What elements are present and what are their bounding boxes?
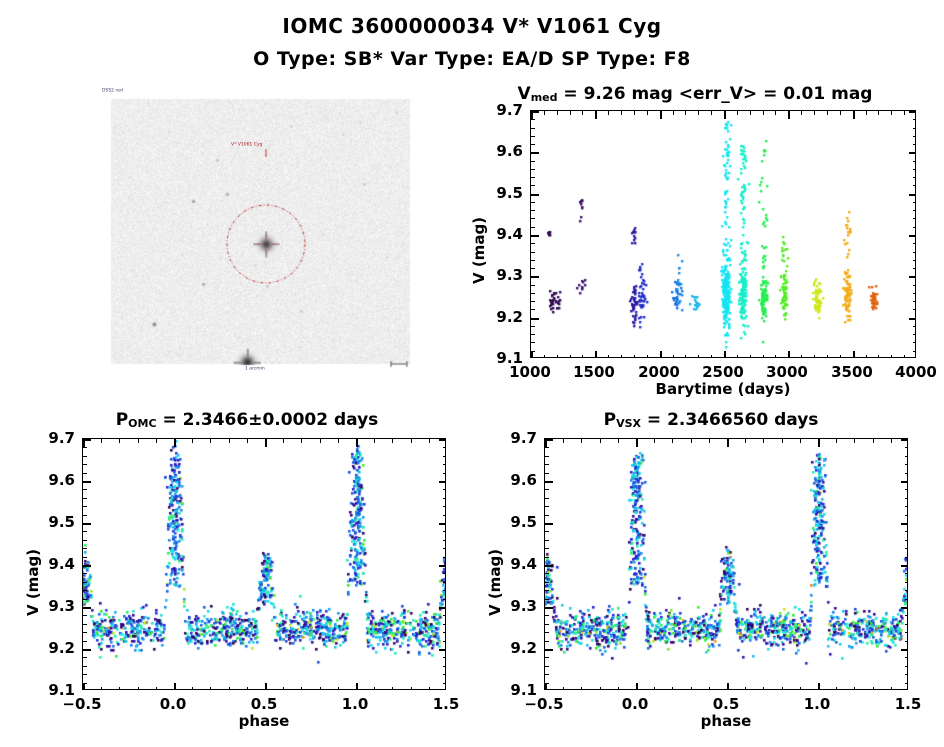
y-axis-tick-label: 9.7: [48, 429, 75, 447]
axis-tick: [443, 674, 446, 675]
axis-tick: [698, 111, 699, 115]
axis-tick: [905, 641, 908, 642]
axis-tick: [618, 687, 619, 690]
axis-tick: [788, 111, 790, 119]
axis-tick: [782, 439, 783, 443]
phase-omc-panel: POMC = 2.3466±0.0002 days V (mag) phase …: [12, 410, 482, 740]
x-axis-tick-label: 3000: [766, 363, 808, 381]
axis-tick: [818, 439, 820, 447]
axis-tick: [672, 687, 673, 690]
axis-tick: [913, 293, 916, 294]
page-subtitle: O Type: SB* Var Type: EA/D SP Type: F8: [0, 48, 944, 70]
axis-tick: [636, 683, 638, 690]
axis-tick: [709, 687, 710, 690]
axis-tick: [905, 515, 908, 516]
axis-tick: [443, 615, 446, 616]
axis-tick: [673, 111, 674, 115]
axis-tick: [439, 649, 446, 651]
x-axis-tick-label: 1.0: [342, 695, 369, 713]
axis-tick: [545, 439, 553, 441]
axis-tick: [905, 531, 908, 532]
x-axis-tick-label: 1.5: [433, 695, 460, 713]
axis-tick: [439, 523, 446, 525]
y-axis-tick-label: 9.1: [496, 349, 523, 367]
axis-tick: [737, 355, 738, 358]
axis-tick: [531, 144, 535, 145]
axis-tick: [909, 318, 916, 320]
axis-tick: [909, 276, 916, 278]
axis-tick: [727, 683, 729, 690]
axis-tick: [901, 439, 908, 441]
axis-tick: [563, 687, 564, 690]
axis-tick: [905, 464, 908, 465]
axis-tick: [891, 355, 892, 358]
axis-tick: [660, 351, 662, 358]
axis-tick: [443, 498, 446, 499]
x-axis-tick-label: 1500: [573, 363, 615, 381]
axis-tick: [545, 641, 549, 642]
y-axis-tick-label: 9.5: [48, 513, 75, 531]
axis-tick: [595, 111, 597, 119]
axis-tick: [531, 276, 539, 278]
axis-tick: [531, 210, 535, 211]
axis-tick: [544, 355, 545, 358]
phase-omc-points: [83, 439, 446, 690]
axis-tick: [545, 615, 549, 616]
axis-tick: [531, 318, 539, 320]
phase-vsx-points: [545, 439, 908, 690]
axis-tick: [763, 111, 764, 115]
axis-tick: [83, 498, 87, 499]
axis-tick: [83, 481, 91, 483]
axis-tick: [672, 439, 673, 443]
axis-tick: [727, 439, 729, 447]
axis-tick: [83, 439, 91, 441]
axis-tick: [545, 456, 549, 457]
axis-tick: [913, 119, 916, 120]
axis-tick: [545, 573, 549, 574]
axis-tick: [531, 169, 535, 170]
axis-tick: [531, 260, 535, 261]
y-axis-tick-label: 9.6: [510, 471, 537, 489]
axis-tick: [545, 590, 549, 591]
axis-tick: [83, 523, 91, 525]
y-axis-tick-label: 9.2: [48, 639, 75, 657]
axis-tick: [545, 481, 553, 483]
axis-tick: [724, 111, 726, 119]
axis-tick: [283, 687, 284, 690]
axis-tick: [443, 683, 446, 684]
axis-tick: [691, 439, 692, 443]
axis-tick: [174, 683, 176, 690]
axis-tick: [283, 439, 284, 443]
axis-tick: [443, 573, 446, 574]
phase-vsx-panel: PVSX = 2.3466560 days V (mag) phase −0.5…: [478, 410, 944, 740]
phase-vsx-ylabel: V (mag): [486, 549, 504, 616]
axis-tick: [545, 464, 549, 465]
axis-tick: [905, 506, 908, 507]
axis-tick: [531, 243, 535, 244]
x-axis-tick-label: 1.5: [895, 695, 922, 713]
axis-tick: [866, 355, 867, 358]
axis-tick: [545, 489, 549, 490]
axis-tick: [913, 285, 916, 286]
lightcurve-time-title: Vmed = 9.26 mag <err_V> = 0.01 mag: [460, 84, 930, 104]
axis-tick: [443, 464, 446, 465]
axis-tick: [545, 565, 553, 567]
axis-tick: [581, 439, 582, 443]
axis-tick: [905, 624, 908, 625]
sky-image: [99, 87, 422, 382]
lightcurve-time-xlabel: Barytime (days): [530, 380, 916, 398]
axis-tick: [901, 649, 908, 651]
axis-tick: [905, 573, 908, 574]
axis-tick: [443, 515, 446, 516]
axis-tick: [119, 687, 120, 690]
axis-tick: [901, 607, 908, 609]
axis-tick: [905, 582, 908, 583]
axis-tick: [374, 687, 375, 690]
axis-tick: [595, 351, 597, 358]
x-axis-tick-label: 4000: [895, 363, 937, 381]
axis-tick: [247, 687, 248, 690]
axis-tick: [83, 456, 87, 457]
axis-tick: [83, 573, 87, 574]
axis-tick: [854, 439, 855, 443]
axis-tick: [570, 111, 571, 115]
axis-tick: [83, 624, 87, 625]
axis-tick: [356, 439, 358, 447]
axis-tick: [443, 590, 446, 591]
axis-tick: [905, 447, 908, 448]
axis-tick: [782, 687, 783, 690]
axis-tick: [439, 439, 446, 441]
axis-tick: [801, 355, 802, 358]
axis-tick: [836, 687, 837, 690]
axis-tick: [545, 683, 549, 684]
axis-tick: [439, 481, 446, 483]
y-axis-tick-label: 9.3: [510, 597, 537, 615]
y-axis-tick-label: 9.5: [496, 184, 523, 202]
axis-tick: [545, 657, 549, 658]
axis-tick: [913, 144, 916, 145]
axis-tick: [545, 624, 549, 625]
axis-tick: [840, 111, 841, 115]
axis-tick: [545, 674, 549, 675]
x-axis-tick-label: 0.5: [251, 695, 278, 713]
axis-tick: [621, 355, 622, 358]
axis-tick: [913, 351, 916, 352]
y-axis-tick-label: 9.4: [510, 555, 537, 573]
axis-tick: [531, 301, 535, 302]
y-axis-tick-label: 9.4: [48, 555, 75, 573]
axis-tick: [557, 111, 558, 115]
axis-tick: [531, 309, 535, 310]
axis-tick: [531, 194, 539, 196]
phase-omc-ylabel: V (mag): [24, 549, 42, 616]
axis-tick: [545, 540, 549, 541]
axis-tick: [531, 268, 535, 269]
axis-tick: [545, 666, 549, 667]
axis-tick: [711, 111, 712, 115]
axis-tick: [647, 111, 648, 115]
axis-tick: [443, 473, 446, 474]
axis-tick: [905, 599, 908, 600]
x-axis-tick-label: 3500: [831, 363, 873, 381]
axis-tick: [531, 227, 535, 228]
axis-tick: [909, 111, 916, 113]
axis-tick: [570, 355, 571, 358]
axis-tick: [83, 615, 87, 616]
axis-tick: [83, 515, 87, 516]
y-axis-tick-label: 9.3: [496, 266, 523, 284]
axis-tick: [691, 687, 692, 690]
axis-tick: [557, 355, 558, 358]
axis-tick: [827, 355, 828, 358]
axis-tick: [531, 342, 535, 343]
axis-tick: [356, 683, 358, 690]
axis-tick: [608, 111, 609, 115]
axis-tick: [763, 439, 764, 443]
axis-tick: [913, 268, 916, 269]
axis-tick: [873, 687, 874, 690]
axis-tick: [83, 657, 87, 658]
axis-tick: [709, 439, 710, 443]
y-axis-tick-label: 9.1: [48, 681, 75, 699]
axis-tick: [600, 439, 601, 443]
y-axis-tick-label: 9.1: [510, 681, 537, 699]
axis-tick: [905, 498, 908, 499]
axis-tick: [827, 111, 828, 115]
axis-tick: [878, 111, 879, 115]
axis-tick: [608, 355, 609, 358]
axis-tick: [636, 439, 638, 447]
axis-tick: [531, 351, 535, 352]
axis-tick: [531, 119, 535, 120]
axis-tick: [531, 293, 535, 294]
axis-tick: [904, 355, 905, 358]
axis-tick: [634, 111, 635, 115]
axis-tick: [647, 355, 648, 358]
axis-tick: [909, 194, 916, 196]
axis-tick: [901, 523, 908, 525]
axis-tick: [531, 111, 539, 113]
lightcurve-time-ylabel: V (mag): [470, 217, 488, 284]
axis-tick: [545, 473, 549, 474]
x-axis-tick-label: 0.0: [622, 695, 649, 713]
axis-tick: [873, 439, 874, 443]
axis-tick: [392, 687, 393, 690]
axis-tick: [913, 210, 916, 211]
axis-tick: [83, 447, 87, 448]
axis-tick: [443, 599, 446, 600]
axis-tick: [545, 498, 549, 499]
axis-tick: [737, 111, 738, 115]
axis-tick: [891, 439, 892, 443]
axis-tick: [905, 632, 908, 633]
axis-tick: [878, 355, 879, 358]
axis-tick: [443, 447, 446, 448]
y-axis-tick-label: 9.5: [510, 513, 537, 531]
axis-tick: [531, 218, 535, 219]
axis-tick: [581, 687, 582, 690]
axis-tick: [913, 260, 916, 261]
axis-tick: [913, 218, 916, 219]
axis-tick: [83, 590, 87, 591]
axis-tick: [545, 548, 549, 549]
axis-tick: [83, 548, 87, 549]
axis-tick: [83, 565, 91, 567]
axis-tick: [913, 334, 916, 335]
axis-tick: [905, 657, 908, 658]
axis-tick: [429, 687, 430, 690]
axis-tick: [634, 355, 635, 358]
axis-tick: [531, 177, 535, 178]
axis-tick: [600, 687, 601, 690]
axis-tick: [138, 439, 139, 443]
y-axis-tick-label: 9.4: [496, 225, 523, 243]
y-axis-tick-label: 9.2: [496, 308, 523, 326]
axis-tick: [818, 683, 820, 690]
phase-vsx-title: PVSX = 2.3466560 days: [478, 410, 944, 430]
phase-vsx-plot-area: [544, 438, 908, 690]
axis-tick: [909, 152, 916, 154]
axis-tick: [775, 111, 776, 115]
axis-tick: [800, 439, 801, 443]
axis-tick: [531, 285, 535, 286]
axis-tick: [800, 687, 801, 690]
axis-tick: [83, 649, 91, 651]
x-axis-tick-label: 1.0: [804, 695, 831, 713]
axis-tick: [156, 687, 157, 690]
axis-tick: [443, 641, 446, 642]
axis-tick: [83, 540, 87, 541]
axis-tick: [531, 152, 539, 154]
y-axis-tick-label: 9.3: [48, 597, 75, 615]
axis-tick: [711, 355, 712, 358]
page-title: IOMC 3600000034 V* V1061 Cyg: [0, 14, 944, 38]
phase-omc-title: POMC = 2.3466±0.0002 days: [12, 410, 482, 430]
axis-tick: [563, 439, 564, 443]
axis-tick: [265, 683, 267, 690]
axis-tick: [83, 666, 87, 667]
axis-tick: [210, 687, 211, 690]
axis-tick: [545, 506, 549, 507]
axis-tick: [840, 355, 841, 358]
axis-tick: [853, 111, 855, 119]
axis-tick: [685, 355, 686, 358]
axis-tick: [138, 687, 139, 690]
axis-tick: [374, 439, 375, 443]
axis-tick: [192, 439, 193, 443]
axis-tick: [443, 548, 446, 549]
scale-bar-label: 1 arcmin: [245, 366, 265, 371]
axis-tick: [83, 674, 87, 675]
axis-tick: [621, 111, 622, 115]
y-axis-tick-label: 9.6: [496, 142, 523, 160]
axis-tick: [913, 136, 916, 137]
axis-tick: [83, 557, 87, 558]
axis-tick: [618, 439, 619, 443]
axis-tick: [913, 309, 916, 310]
axis-tick: [443, 632, 446, 633]
survey-label: DSS2 red: [102, 88, 123, 93]
axis-tick: [531, 161, 535, 162]
axis-tick: [913, 326, 916, 327]
axis-tick: [660, 111, 662, 119]
axis-tick: [174, 439, 176, 447]
axis-tick: [853, 351, 855, 358]
axis-tick: [750, 355, 751, 358]
axis-tick: [83, 641, 87, 642]
axis-tick: [301, 439, 302, 443]
axis-tick: [775, 355, 776, 358]
axis-tick: [905, 666, 908, 667]
axis-tick: [814, 111, 815, 115]
axis-tick: [854, 687, 855, 690]
axis-tick: [905, 473, 908, 474]
x-axis-tick-label: 0.0: [160, 695, 187, 713]
axis-tick: [83, 632, 87, 633]
axis-tick: [545, 599, 549, 600]
axis-tick: [443, 506, 446, 507]
axis-tick: [909, 235, 916, 237]
axis-tick: [654, 687, 655, 690]
axis-tick: [763, 355, 764, 358]
axis-tick: [913, 252, 916, 253]
axis-tick: [801, 111, 802, 115]
axis-tick: [443, 456, 446, 457]
phase-omc-xlabel: phase: [82, 712, 446, 730]
axis-tick: [443, 531, 446, 532]
axis-tick: [913, 177, 916, 178]
axis-tick: [745, 687, 746, 690]
axis-tick: [698, 355, 699, 358]
axis-tick: [545, 582, 549, 583]
axis-tick: [439, 607, 446, 609]
axis-tick: [229, 439, 230, 443]
axis-tick: [913, 342, 916, 343]
axis-tick: [229, 687, 230, 690]
axis-tick: [265, 439, 267, 447]
axis-tick: [83, 683, 87, 684]
axis-tick: [901, 481, 908, 483]
axis-tick: [531, 136, 535, 137]
axis-tick: [83, 531, 87, 532]
axis-tick: [531, 128, 535, 129]
axis-tick: [301, 687, 302, 690]
axis-tick: [320, 439, 321, 443]
axis-tick: [83, 599, 87, 600]
axis-tick: [83, 607, 91, 609]
target-name-label: V* V1061 Cyg: [231, 142, 262, 147]
axis-tick: [913, 161, 916, 162]
axis-tick: [443, 540, 446, 541]
axis-tick: [913, 185, 916, 186]
axis-tick: [905, 590, 908, 591]
axis-tick: [905, 615, 908, 616]
axis-tick: [763, 687, 764, 690]
axis-tick: [338, 687, 339, 690]
dss-finding-chart-panel: DSS2 red V* V1061 Cyg 1 arcmin: [99, 87, 422, 382]
axis-tick: [443, 489, 446, 490]
axis-tick: [101, 439, 102, 443]
axis-tick: [338, 439, 339, 443]
axis-tick: [531, 252, 535, 253]
axis-tick: [545, 531, 549, 532]
axis-tick: [429, 439, 430, 443]
axis-tick: [156, 439, 157, 443]
